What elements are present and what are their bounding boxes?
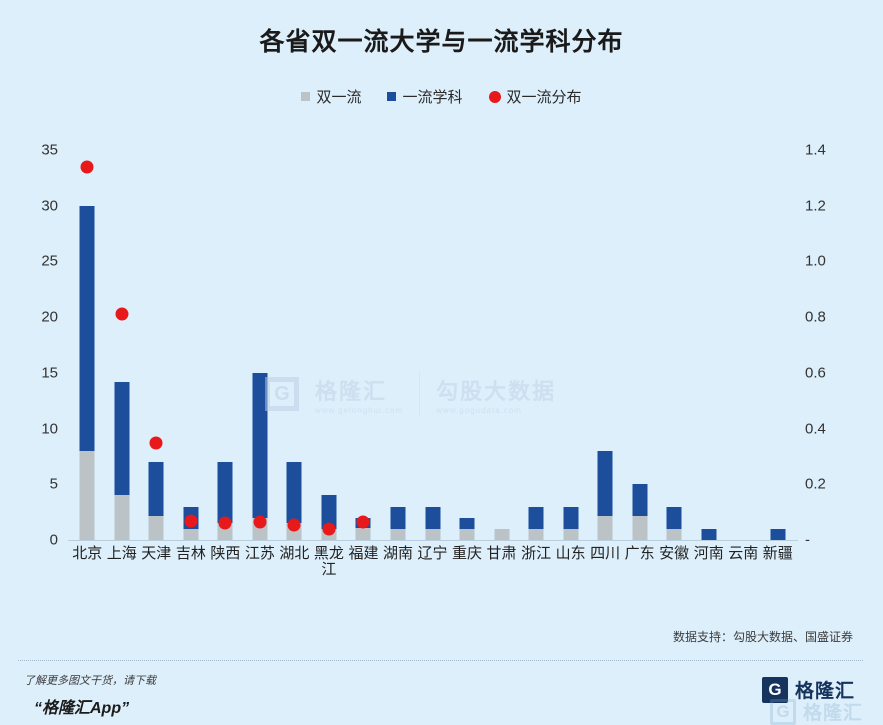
page-title: 各省双一流大学与一流学科分布 bbox=[0, 0, 883, 58]
bar-stack[interactable] bbox=[80, 206, 95, 540]
x-axis-label: 黑龙江 bbox=[314, 546, 344, 577]
y-axis-left: 05101520253035 bbox=[0, 138, 58, 548]
bar-group[interactable] bbox=[140, 150, 172, 540]
bar-group[interactable] bbox=[762, 150, 794, 540]
scatter-point-shuangyiliu-fenbu[interactable] bbox=[253, 515, 266, 528]
y-tick-right: 0.4 bbox=[805, 420, 826, 437]
scatter-point-shuangyiliu-fenbu[interactable] bbox=[150, 436, 163, 449]
bar-segment-yiliuxueke[interactable] bbox=[632, 484, 647, 515]
scatter-point-shuangyiliu-fenbu[interactable] bbox=[184, 514, 197, 527]
footer-text: 了解更多图文干货，请下载 “格隆汇App” bbox=[24, 672, 156, 718]
x-axis-label: 湖南 bbox=[383, 546, 413, 562]
bar-segment-shuangyiliu[interactable] bbox=[80, 451, 95, 540]
bar-segment-shuangyiliu[interactable] bbox=[183, 529, 198, 540]
bar-stack[interactable] bbox=[667, 507, 682, 540]
x-axis-label: 广东 bbox=[625, 546, 655, 562]
footer-line-2: “格隆汇App” bbox=[34, 694, 156, 718]
bar-stack[interactable] bbox=[770, 529, 785, 540]
bar-segment-yiliuxueke[interactable] bbox=[114, 382, 129, 496]
legend-item-label: 一流学科 bbox=[402, 86, 462, 107]
bar-stack[interactable] bbox=[494, 529, 509, 540]
y-tick-right: 1.2 bbox=[805, 197, 826, 214]
bar-group[interactable] bbox=[417, 150, 449, 540]
chart-plot-area: 05101520253035 -0.20.40.60.81.01.21.4 bbox=[0, 138, 883, 548]
bar-segment-yiliuxueke[interactable] bbox=[770, 529, 785, 540]
y-tick-right: 0.8 bbox=[805, 309, 826, 326]
y-tick-right: 0.6 bbox=[805, 364, 826, 381]
legend-item-shuangyiliu-fenbu[interactable]: 双一流分布 bbox=[489, 86, 582, 107]
y-tick-left: 20 bbox=[41, 309, 58, 326]
y-tick-left: 30 bbox=[41, 197, 58, 214]
bar-stack[interactable] bbox=[632, 484, 647, 540]
bar-stack[interactable] bbox=[529, 507, 544, 540]
bar-segment-yiliuxueke[interactable] bbox=[218, 462, 233, 523]
x-axis-label: 上海 bbox=[107, 546, 137, 562]
bar-segment-shuangyiliu[interactable] bbox=[356, 528, 371, 540]
bar-group[interactable] bbox=[693, 150, 725, 540]
bar-group[interactable] bbox=[658, 150, 690, 540]
bar-segment-yiliuxueke[interactable] bbox=[287, 462, 302, 523]
bar-segment-shuangyiliu[interactable] bbox=[529, 529, 544, 540]
x-axis-label: 江苏 bbox=[245, 546, 275, 562]
scatter-point-shuangyiliu-fenbu[interactable] bbox=[81, 160, 94, 173]
footer-logo-ghost: G 格隆汇 bbox=[770, 698, 863, 725]
scatter-point-shuangyiliu-fenbu[interactable] bbox=[115, 308, 128, 321]
bar-group[interactable] bbox=[244, 150, 276, 540]
bar-stack[interactable] bbox=[598, 451, 613, 540]
x-axis-label: 河南 bbox=[694, 546, 724, 562]
bar-group[interactable] bbox=[175, 150, 207, 540]
x-axis-label: 四川 bbox=[590, 546, 620, 562]
bar-segment-yiliuxueke[interactable] bbox=[529, 507, 544, 529]
legend-item-shuangyiliu[interactable]: 双一流 bbox=[301, 86, 361, 107]
bar-segment-yiliuxueke[interactable] bbox=[390, 507, 405, 529]
y-tick-left: 35 bbox=[41, 142, 58, 159]
x-axis-label: 陕西 bbox=[210, 546, 240, 562]
bar-group[interactable] bbox=[520, 150, 552, 540]
y-tick-right: - bbox=[805, 532, 810, 549]
footer-logo-name: 格隆汇 bbox=[803, 698, 863, 725]
bar-segment-shuangyiliu[interactable] bbox=[460, 529, 475, 540]
x-axis-label: 浙江 bbox=[521, 546, 551, 562]
y-tick-left: 15 bbox=[41, 364, 58, 381]
x-axis-label: 北京 bbox=[72, 546, 102, 562]
bar-stack[interactable] bbox=[460, 518, 475, 540]
bar-group[interactable] bbox=[106, 150, 138, 540]
square-blue-icon bbox=[387, 92, 396, 101]
bar-group[interactable] bbox=[278, 150, 310, 540]
bar-segment-yiliuxueke[interactable] bbox=[149, 462, 164, 515]
chart-legend: 双一流 一流学科 双一流分布 bbox=[0, 86, 883, 107]
y-tick-right: 0.2 bbox=[805, 476, 826, 493]
x-axis-label: 湖北 bbox=[279, 546, 309, 562]
x-axis-label: 天津 bbox=[141, 546, 171, 562]
y-tick-right: 1.4 bbox=[805, 142, 826, 159]
bar-segment-yiliuxueke[interactable] bbox=[701, 529, 716, 540]
bar-group[interactable] bbox=[209, 150, 241, 540]
bar-group[interactable] bbox=[624, 150, 656, 540]
y-tick-right: 1.0 bbox=[805, 253, 826, 270]
bar-segment-shuangyiliu[interactable] bbox=[632, 516, 647, 541]
scatter-point-shuangyiliu-fenbu[interactable] bbox=[288, 518, 301, 531]
bar-stack[interactable] bbox=[390, 507, 405, 540]
bar-segment-yiliuxueke[interactable] bbox=[667, 507, 682, 529]
brand-logo-icon: G bbox=[770, 699, 796, 725]
scatter-point-shuangyiliu-fenbu[interactable] bbox=[322, 522, 335, 535]
bar-group[interactable] bbox=[727, 150, 759, 540]
bar-segment-shuangyiliu[interactable] bbox=[425, 529, 440, 540]
y-tick-left: 25 bbox=[41, 253, 58, 270]
bar-segment-yiliuxueke[interactable] bbox=[252, 373, 267, 518]
x-axis-label: 吉林 bbox=[176, 546, 206, 562]
source-note: 数据支持：勾股大数据、国盛证券 bbox=[673, 628, 853, 645]
bars-container bbox=[70, 150, 795, 540]
x-axis-label: 福建 bbox=[348, 546, 378, 562]
bar-segment-shuangyiliu[interactable] bbox=[667, 529, 682, 540]
bar-segment-shuangyiliu[interactable] bbox=[149, 516, 164, 541]
square-gray-icon bbox=[301, 92, 310, 101]
bar-segment-shuangyiliu[interactable] bbox=[598, 516, 613, 541]
y-tick-left: 0 bbox=[50, 532, 58, 549]
bar-stack[interactable] bbox=[701, 529, 716, 540]
circle-red-icon bbox=[489, 91, 501, 103]
bar-segment-shuangyiliu[interactable] bbox=[494, 529, 509, 540]
x-axis-label: 山东 bbox=[556, 546, 586, 562]
x-axis-label: 辽宁 bbox=[418, 546, 448, 562]
bar-stack[interactable] bbox=[563, 507, 578, 540]
bar-segment-shuangyiliu[interactable] bbox=[563, 529, 578, 540]
bar-group[interactable] bbox=[451, 150, 483, 540]
y-tick-left: 10 bbox=[41, 420, 58, 437]
legend-item-yiliuxueke[interactable]: 一流学科 bbox=[387, 86, 462, 107]
bar-segment-shuangyiliu[interactable] bbox=[114, 495, 129, 540]
bar-group[interactable] bbox=[71, 150, 103, 540]
bar-segment-yiliuxueke[interactable] bbox=[80, 206, 95, 451]
x-axis-label: 甘肃 bbox=[487, 546, 517, 562]
footer-divider bbox=[18, 660, 863, 661]
bar-segment-yiliuxueke[interactable] bbox=[425, 507, 440, 529]
bar-stack[interactable] bbox=[114, 382, 129, 540]
bar-segment-shuangyiliu[interactable] bbox=[390, 529, 405, 540]
x-axis-label: 安徽 bbox=[659, 546, 689, 562]
bar-segment-yiliuxueke[interactable] bbox=[460, 518, 475, 529]
bar-segment-yiliuxueke[interactable] bbox=[563, 507, 578, 529]
x-axis-label: 重庆 bbox=[452, 546, 482, 562]
bar-group[interactable] bbox=[382, 150, 414, 540]
scatter-point-shuangyiliu-fenbu[interactable] bbox=[357, 515, 370, 528]
bar-stack[interactable] bbox=[149, 462, 164, 540]
y-tick-left: 5 bbox=[50, 476, 58, 493]
bar-group[interactable] bbox=[589, 150, 621, 540]
footer-line-1: 了解更多图文干货，请下载 bbox=[24, 672, 156, 688]
x-axis-label: 新疆 bbox=[763, 546, 793, 562]
y-axis-right: -0.20.40.60.81.01.21.4 bbox=[805, 138, 865, 548]
bar-group[interactable] bbox=[313, 150, 345, 540]
bar-stack[interactable] bbox=[425, 507, 440, 540]
x-axis-label: 云南 bbox=[728, 546, 758, 562]
bar-group[interactable] bbox=[347, 150, 379, 540]
bar-group[interactable] bbox=[486, 150, 518, 540]
bar-group[interactable] bbox=[555, 150, 587, 540]
x-axis-line bbox=[68, 540, 798, 541]
scatter-point-shuangyiliu-fenbu[interactable] bbox=[219, 517, 232, 530]
legend-item-label: 双一流 bbox=[316, 86, 361, 107]
bar-segment-yiliuxueke[interactable] bbox=[598, 451, 613, 516]
legend-item-label: 双一流分布 bbox=[507, 86, 582, 107]
